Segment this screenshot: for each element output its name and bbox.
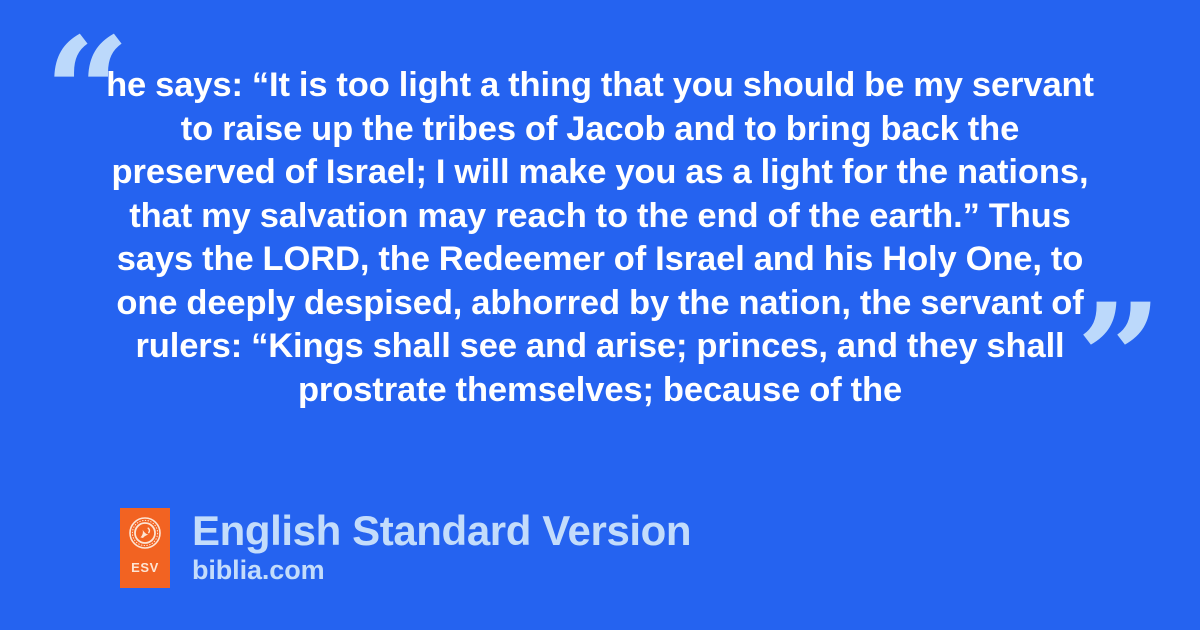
esv-seal-icon [129, 517, 161, 549]
brand-title: English Standard Version [192, 508, 691, 554]
verse-quote-text: he says: “It is too light a thing that y… [100, 64, 1100, 412]
verse-card: “ ” he says: “It is too light a thing th… [0, 0, 1200, 630]
brand-url: biblia.com [192, 555, 691, 585]
brand-text-block: English Standard Version biblia.com [192, 508, 691, 585]
quote-area: he says: “It is too light a thing that y… [0, 0, 1200, 450]
branding-footer: ESV English Standard Version biblia.com [120, 508, 691, 588]
esv-badge-label: ESV [131, 561, 159, 574]
esv-logo-badge: ESV [120, 508, 170, 588]
